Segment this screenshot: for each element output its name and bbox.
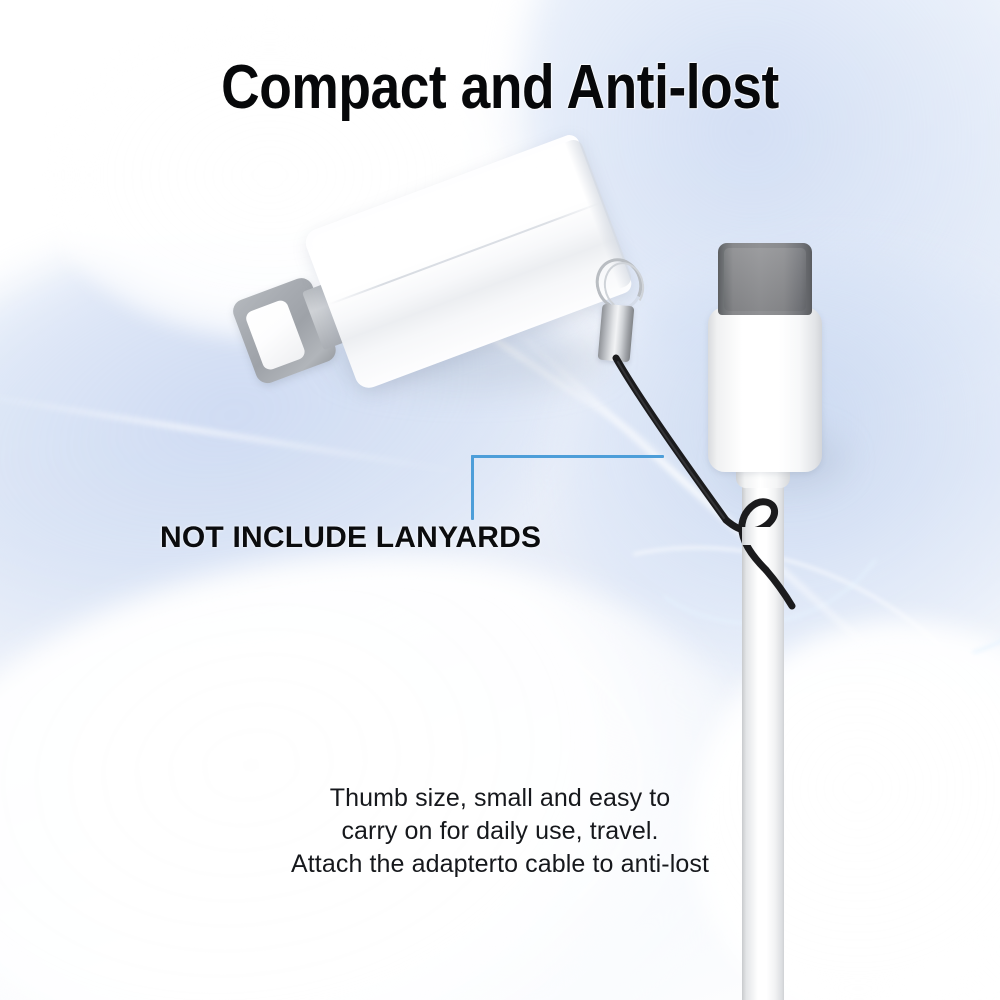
page-title: Compact and Anti-lost: [70, 52, 930, 123]
callout-line-horizontal: [471, 455, 664, 458]
lightning-contact-pad: [244, 298, 307, 371]
product-image-canvas: Compact and Anti-lost NOT INCLUDE LANYAR…: [0, 0, 1000, 1000]
cable-over-cord-segment: [742, 527, 784, 545]
callout-line-vertical: [471, 455, 474, 520]
description-line-2: carry on for daily use, travel.: [0, 815, 1000, 848]
description-line-3: Attach the adapterto cable to anti-lost: [0, 848, 1000, 881]
usbc-connector-housing: [708, 307, 822, 472]
description-text: Thumb size, small and easy to carry on f…: [0, 782, 1000, 881]
description-line-1: Thumb size, small and easy to: [0, 782, 1000, 815]
callout-label: NOT INCLUDE LANYARDS: [160, 521, 541, 555]
usbc-connector-tip: [718, 243, 812, 315]
lanyard-metal-ferrule: [598, 304, 635, 363]
